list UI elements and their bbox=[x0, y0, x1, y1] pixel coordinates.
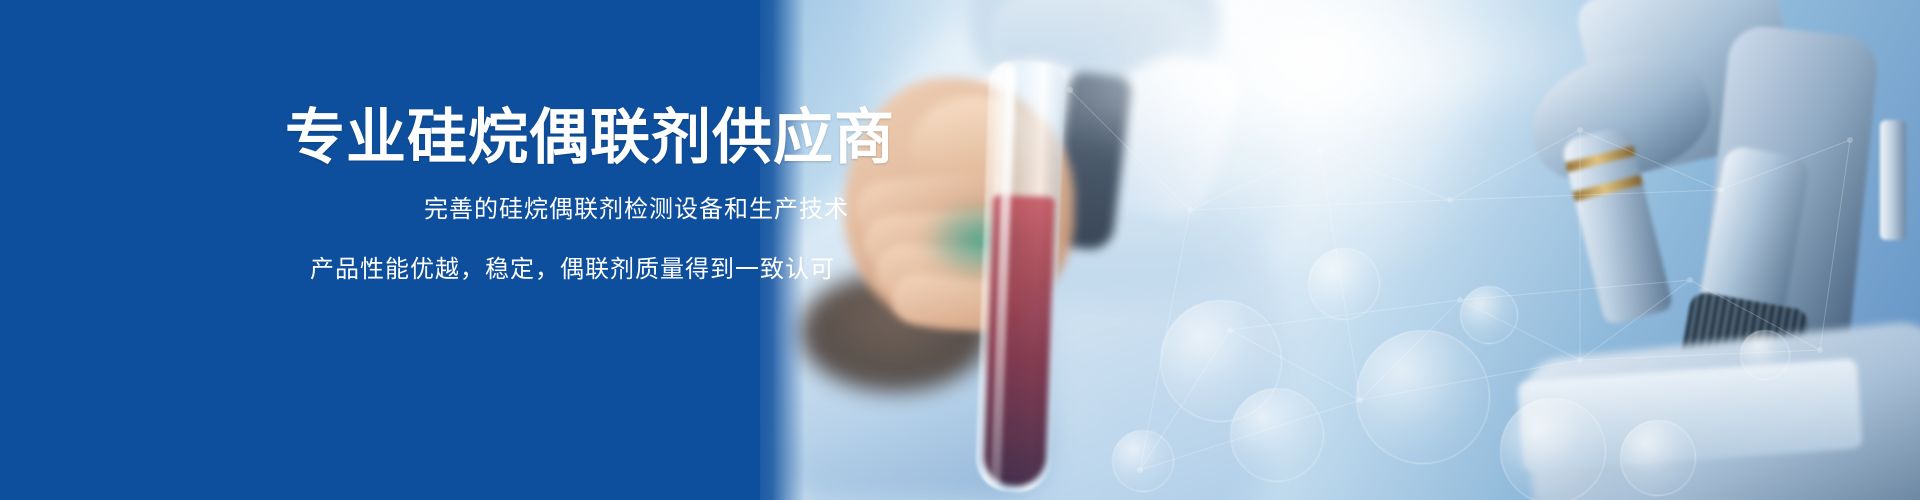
hero-banner: 专业硅烷偶联剂供应商 完善的硅烷偶联剂检测设备和生产技术 产品性能优越，稳定，偶… bbox=[0, 0, 1920, 500]
lab-photo bbox=[760, 0, 1920, 500]
banner-copy: 专业硅烷偶联剂供应商 完善的硅烷偶联剂检测设备和生产技术 产品性能优越，稳定，偶… bbox=[0, 0, 900, 500]
network-overlay bbox=[760, 0, 1920, 500]
banner-headline: 专业硅烷偶联剂供应商 bbox=[285, 108, 895, 168]
banner-subtitle-line1: 完善的硅烷偶联剂检测设备和生产技术 bbox=[424, 198, 849, 222]
banner-subtitle-line2: 产品性能优越，稳定，偶联剂质量得到一致认可 bbox=[310, 258, 835, 282]
